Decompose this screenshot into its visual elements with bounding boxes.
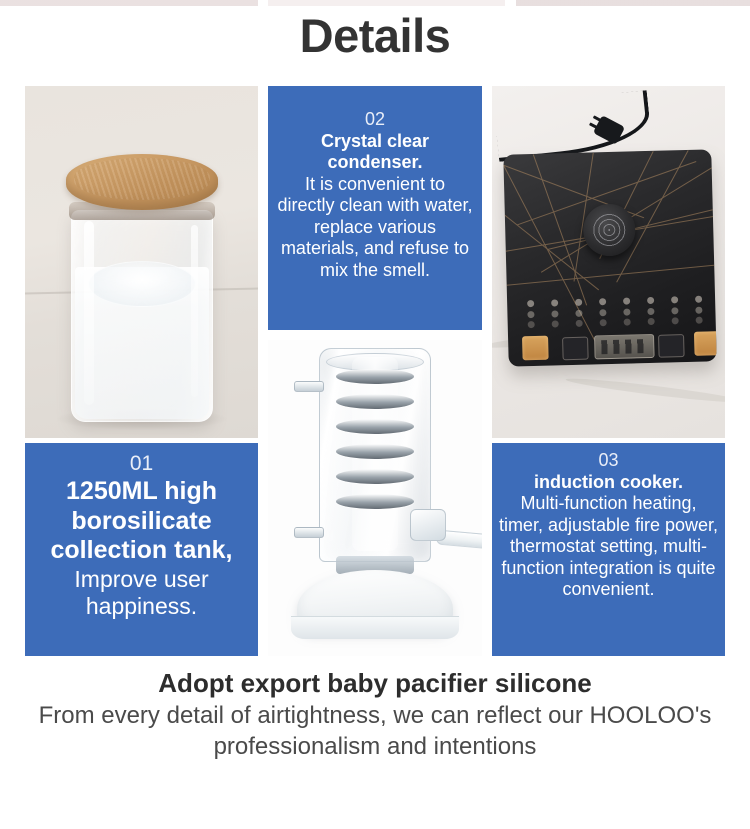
feature-headline-02: Crystal clear condenser. [274,131,476,174]
jar-highlight-right [191,225,198,397]
control-button-menu[interactable] [562,337,589,361]
features-grid: 01 1250ML high borosilicate collection t… [25,86,725,656]
photo-induction-cooker [492,86,725,438]
condenser-port-top-left [294,381,324,392]
feature-headline-03: induction cooker. [498,472,719,494]
cooktop-control-panel[interactable] [518,331,709,362]
footer-body: From every detail of airtightness, we ca… [0,701,750,762]
condenser-base-ring [291,616,459,639]
jar-highlight-left [84,221,94,405]
page-title: Details [0,12,750,59]
feature-number-03: 03 [498,449,719,472]
feature-number-01: 01 [31,451,252,477]
feature-body-02: It is convenient to directly clean with … [274,174,476,282]
feature-body-01: Improve user happiness. [31,566,252,621]
cooktop-surface [503,149,716,366]
cooktop-indicator-dots [521,296,706,331]
feature-card-02: 02 Crystal clear condenser. It is conven… [268,86,482,330]
previous-section-sliver [0,0,750,6]
condenser-spiral-coil [336,367,414,535]
jar-water-surface [88,261,196,307]
control-button-timer[interactable] [658,334,685,358]
feature-number-02: 02 [274,108,476,131]
jar-bamboo-lid [66,154,218,210]
feature-headline-01: 1250ML high borosilicate collection tank… [31,477,252,566]
footer-headline: Adopt export baby pacifier silicone [0,666,750,701]
condenser-scene [268,340,482,656]
footer-caption: Adopt export baby pacifier silicone From… [0,666,750,763]
cooker-scene [492,86,725,438]
photo-condenser [268,340,482,656]
control-display [594,334,655,360]
jar-scene [25,86,258,438]
condenser-port-bottom-left [294,527,324,538]
control-button-start[interactable] [694,331,717,356]
condenser-outlet-joint [410,509,446,541]
feature-card-03: 03 induction cooker. Multi-function heat… [492,443,725,656]
photo-collection-tank [25,86,258,438]
feature-body-03: Multi-function heating, timer, adjustabl… [498,493,719,601]
cloth-fold [565,375,725,406]
condenser-glass-jacket [319,348,431,562]
jar-glass-body [71,210,213,422]
feature-card-01: 01 1250ML high borosilicate collection t… [25,443,258,656]
control-button-power[interactable] [522,336,549,361]
